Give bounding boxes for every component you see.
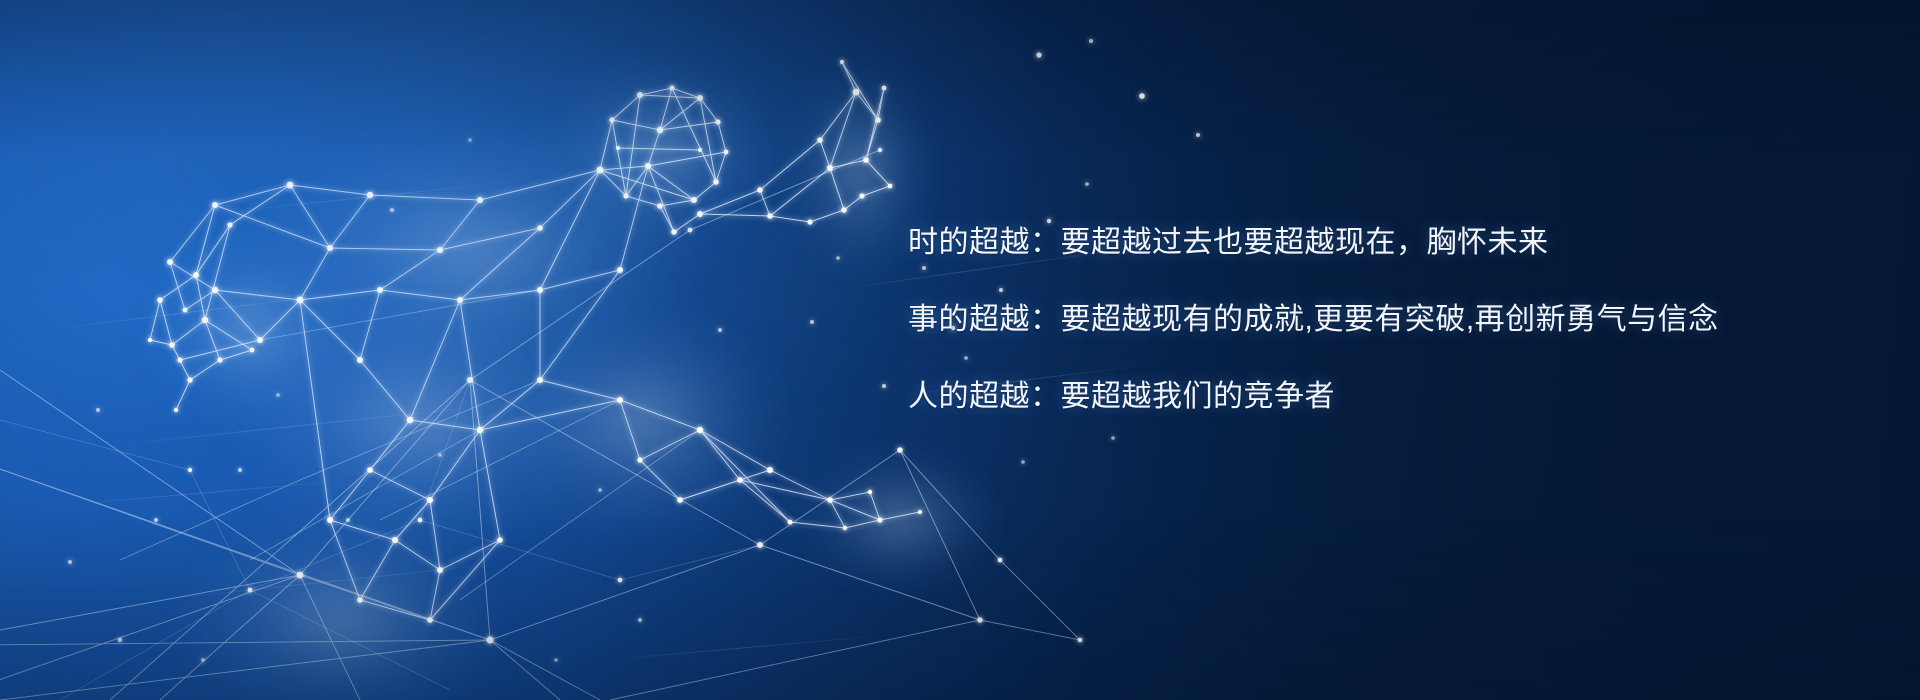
tagline-matter: 事的超越：要超越现有的成就,更要有突破,再创新勇气与信念 <box>908 305 1808 335</box>
hero-banner: 时的超越：要超越过去也要超越现在，胸怀未来 事的超越：要超越现有的成就,更要有突… <box>0 0 1920 700</box>
tagline-time: 时的超越：要超越过去也要超越现在，胸怀未来 <box>908 228 1808 258</box>
tagline-people: 人的超越：要超越我们的竞争者 <box>908 382 1808 412</box>
tagline-block: 时的超越：要超越过去也要超越现在，胸怀未来 事的超越：要超越现有的成就,更要有突… <box>908 228 1808 412</box>
